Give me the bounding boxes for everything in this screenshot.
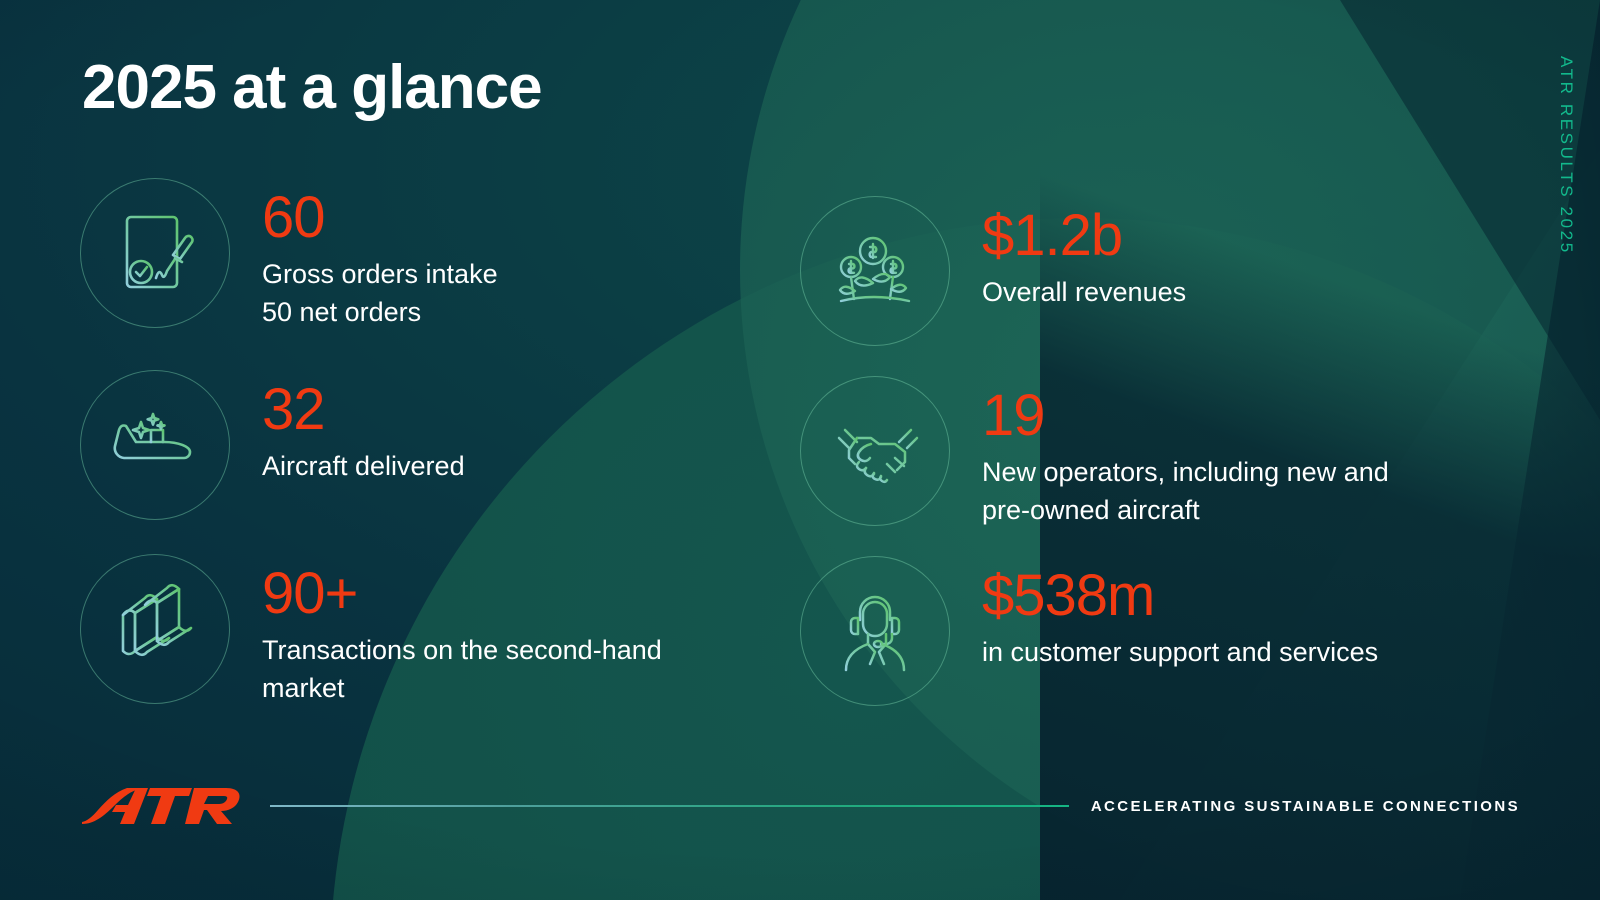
stat-label-line1: in customer support and services <box>982 633 1378 671</box>
stat-value: 60 <box>262 188 498 247</box>
stat-label-line2: pre-owned aircraft <box>982 491 1389 529</box>
stat-aircraft-delivered: 32 Aircraft delivered <box>80 370 465 520</box>
stat-label: Aircraft delivered <box>262 447 465 485</box>
stat-new-operators: 19 New operators, including new and pre-… <box>800 376 1389 530</box>
stat-body: 60 Gross orders intake 50 net orders <box>262 178 498 332</box>
stat-label: in customer support and services <box>982 633 1378 671</box>
customer-support-agent-icon <box>800 556 950 706</box>
aircraft-icon <box>80 370 230 520</box>
stat-body: 19 New operators, including new and pre-… <box>982 376 1389 530</box>
side-label-atr-results: ATR RESULTS 2025 <box>1556 56 1576 255</box>
stat-label: Gross orders intake 50 net orders <box>262 255 498 332</box>
signed-document-icon <box>80 178 230 328</box>
stat-label-line1: Gross orders intake <box>262 255 498 293</box>
stat-customer-support: $538m in customer support and services <box>800 556 1378 706</box>
stat-label: New operators, including new and pre-own… <box>982 453 1389 530</box>
footer-divider-line <box>270 805 1069 807</box>
stat-label-line1: New operators, including new and <box>982 453 1389 491</box>
stat-value: $1.2b <box>982 206 1186 265</box>
stat-secondhand-transactions: 90+ Transactions on the second-hand mark… <box>80 554 662 708</box>
stat-label: Transactions on the second-hand market <box>262 631 662 708</box>
handshake-icon <box>800 376 950 526</box>
stacked-documents-icon <box>80 554 230 704</box>
stat-body: $1.2b Overall revenues <box>982 196 1186 311</box>
money-plant-icon <box>800 196 950 346</box>
stat-body: 32 Aircraft delivered <box>262 370 465 485</box>
stat-label-line1: Aircraft delivered <box>262 447 465 485</box>
stat-label-line1: Transactions on the second-hand <box>262 631 662 669</box>
page-title: 2025 at a glance <box>82 52 542 123</box>
stat-label-line2: market <box>262 669 662 707</box>
atr-logo <box>80 784 248 828</box>
stat-body: 90+ Transactions on the second-hand mark… <box>262 554 662 708</box>
stat-label-line2: 50 net orders <box>262 293 498 331</box>
footer: ACCELERATING SUSTAINABLE CONNECTIONS <box>80 784 1520 828</box>
stat-overall-revenues: $1.2b Overall revenues <box>800 196 1186 346</box>
stat-label-line1: Overall revenues <box>982 273 1186 311</box>
stat-value: 32 <box>262 380 465 439</box>
stat-gross-orders: 60 Gross orders intake 50 net orders <box>80 178 498 332</box>
stat-value: $538m <box>982 566 1378 625</box>
stat-value: 19 <box>982 386 1389 445</box>
stat-body: $538m in customer support and services <box>982 556 1378 671</box>
stat-value: 90+ <box>262 564 662 623</box>
footer-tagline: ACCELERATING SUSTAINABLE CONNECTIONS <box>1091 798 1520 815</box>
infographic-slide: 2025 at a glance ATR RESULTS 2025 <box>0 0 1600 900</box>
stat-label: Overall revenues <box>982 273 1186 311</box>
